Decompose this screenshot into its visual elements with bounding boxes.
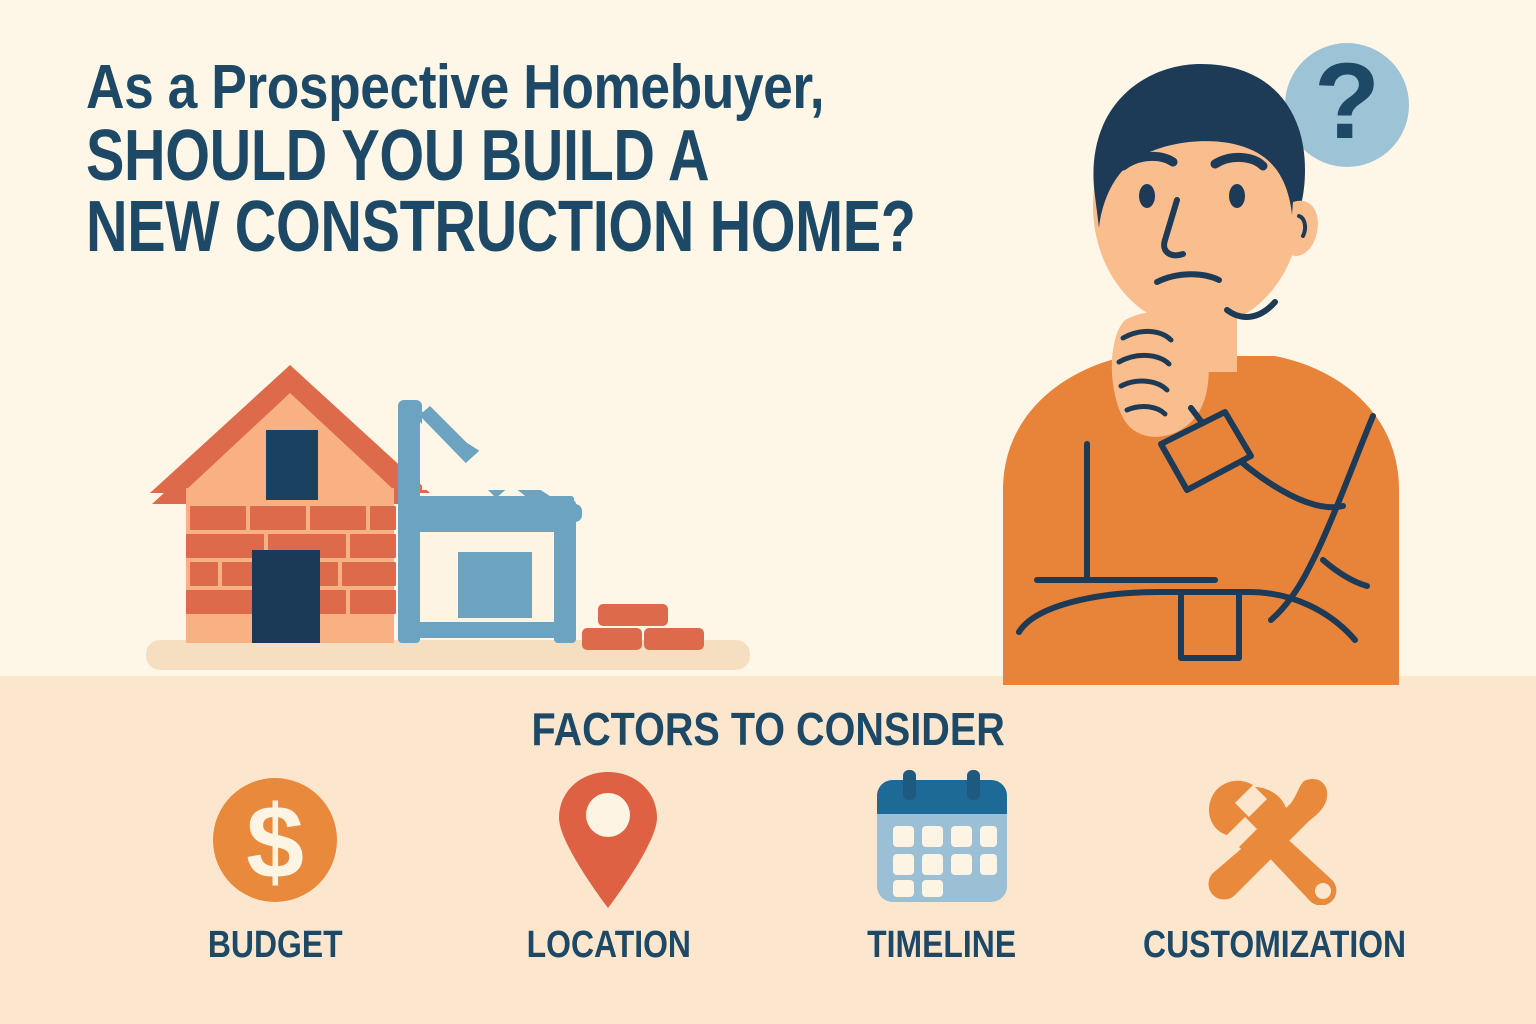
cuff-lower [1181, 592, 1239, 658]
frame-window-void [458, 552, 532, 618]
calendar-icon [867, 772, 1017, 907]
svg-text:$: $ [246, 785, 304, 901]
dollar-coin-icon: $ [210, 772, 340, 907]
half-built-house-illustration [140, 318, 760, 683]
headline-line-2: SHOULD YOU BUILD A [86, 122, 934, 191]
factors-section-title: FACTORS TO CONSIDER [0, 702, 1536, 756]
wrench-screwdriver-icon [1205, 772, 1345, 907]
thought-bubble: ? [1285, 40, 1409, 167]
house-attic-window [266, 430, 318, 500]
factor-budget[interactable]: $ BUDGET [110, 772, 440, 967]
house-door [252, 550, 320, 643]
thinking-man-illustration: ? [975, 20, 1455, 685]
factor-location[interactable]: LOCATION [443, 772, 773, 967]
infographic-canvas: As a Prospective Homebuyer, SHOULD YOU B… [0, 0, 1536, 1024]
factor-label-customization: CUSTOMIZATION [1118, 924, 1431, 967]
factor-customization[interactable]: CUSTOMIZATION [1110, 772, 1440, 967]
headline-line-3: NEW CONSTRUCTION HOME? [86, 193, 934, 262]
factor-label-location: LOCATION [511, 924, 707, 967]
eye-right [1229, 184, 1245, 208]
factor-label-timeline: TIMELINE [853, 924, 1030, 967]
factors-row: $ BUDGET LOCATION [110, 772, 1440, 967]
map-pin-icon [553, 772, 663, 907]
hand [1112, 312, 1209, 437]
eye-left [1139, 184, 1155, 208]
factor-label-budget: BUDGET [195, 924, 355, 967]
question-mark-icon: ? [1314, 40, 1380, 161]
frame-wall-void-b [420, 532, 554, 550]
headline-line-1: As a Prospective Homebuyer, [86, 58, 998, 118]
factor-timeline[interactable]: TIMELINE [777, 772, 1107, 967]
